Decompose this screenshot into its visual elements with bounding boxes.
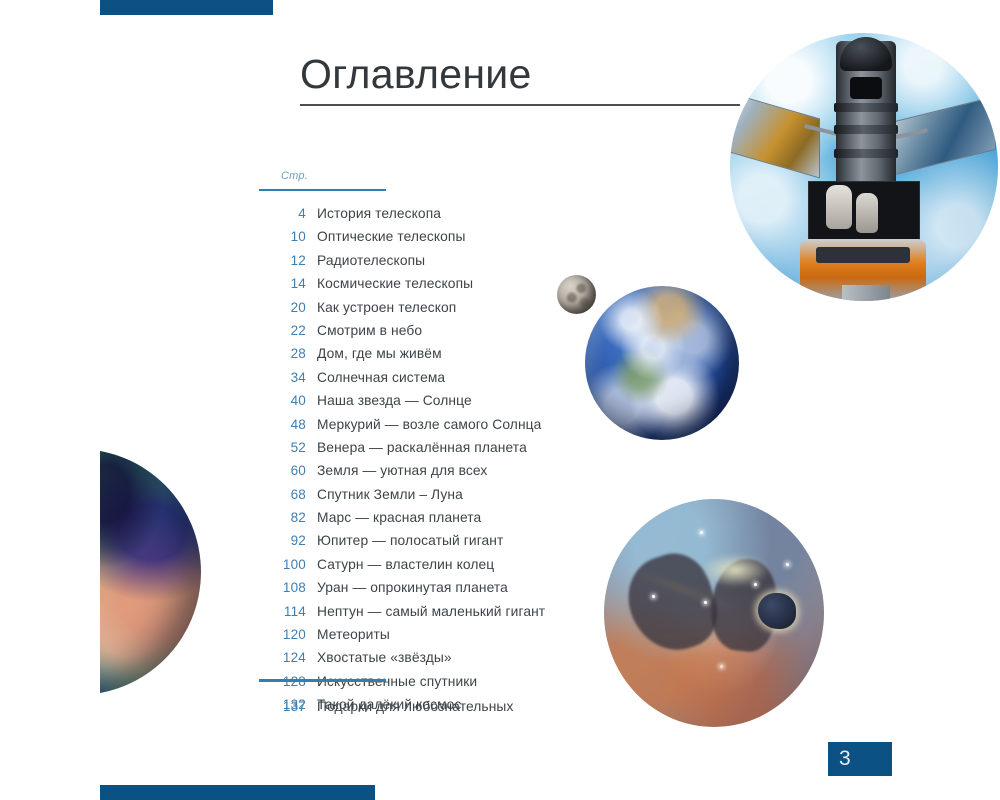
nebula-globule	[758, 593, 796, 629]
list-item[interactable]: 52Венера — раскалённая планета	[259, 440, 679, 463]
solar-panel-left	[730, 92, 820, 179]
toc-page-number: 34	[259, 370, 306, 385]
nebula-photo	[604, 499, 824, 727]
star-point	[786, 563, 789, 566]
list-item[interactable]: 128Искусственные спутники	[259, 674, 679, 697]
toc-entry-label: Спутник Земли – Луна	[317, 487, 463, 502]
telescope-base-panel	[816, 247, 910, 263]
top-decorative-bar	[100, 0, 273, 15]
toc-page-number: 124	[259, 650, 306, 665]
toc-page-number: 92	[259, 533, 306, 548]
list-item[interactable]: 137 Подарки для любознательных	[259, 699, 679, 722]
toc-entry-label: Смотрим в небо	[317, 323, 422, 338]
toc-entry-label: Наша звезда — Солнце	[317, 393, 472, 408]
star-point	[700, 531, 703, 534]
list-item[interactable]: 12Радиотелескопы	[259, 253, 679, 276]
moon-photo	[557, 275, 596, 314]
toc-page-number: 28	[259, 346, 306, 361]
toc-entry-label: Меркурий — возле самого Солнца	[317, 417, 541, 432]
hubble-space-telescope-photo	[730, 33, 998, 301]
telescope-band	[834, 149, 898, 158]
list-item[interactable]: 10Оптические телескопы	[259, 229, 679, 252]
bottom-decorative-bar	[100, 785, 375, 800]
star-point	[720, 665, 723, 668]
toc-page-number: 22	[259, 323, 306, 338]
toc-entry-label: Солнечная система	[317, 370, 445, 385]
toc-page-number: 14	[259, 276, 306, 291]
toc-entry-label: Космические телескопы	[317, 276, 473, 291]
toc-page-number: 60	[259, 463, 306, 478]
telescope-aperture	[850, 77, 882, 99]
list-item[interactable]: 68Спутник Земли – Луна	[259, 487, 679, 510]
page-title: Оглавление	[300, 52, 532, 97]
toc-separator-rule	[259, 679, 386, 682]
toc-page-number: 52	[259, 440, 306, 455]
title-underline	[300, 104, 740, 106]
toc-page-number: 68	[259, 487, 306, 502]
toc-entry-label: Оптические телескопы	[317, 229, 466, 244]
toc-page-number: 10	[259, 229, 306, 244]
earth-globe-photo	[585, 286, 739, 440]
toc-page-number: 100	[259, 557, 306, 572]
list-item[interactable]: 4История телескопа	[259, 206, 679, 229]
telescope-strut	[842, 285, 890, 301]
astronaut-figure	[826, 185, 852, 229]
toc-page-number: 120	[259, 627, 306, 642]
toc-entry-label: Хвостатые «звёзды»	[317, 650, 452, 665]
toc-page-number: 12	[259, 253, 306, 268]
toc-page: Оглавление Стр. 4История телескопа10Опти…	[0, 0, 1000, 800]
list-item[interactable]: 82Марс — красная планета	[259, 510, 679, 533]
caption-rule	[259, 189, 386, 191]
star-point	[652, 595, 655, 598]
toc-entry-label: Марс — красная планета	[317, 510, 481, 525]
toc-page-number: 82	[259, 510, 306, 525]
toc-entry-label: Дом, где мы живём	[317, 346, 442, 361]
toc-page-number: 48	[259, 417, 306, 432]
star-point	[754, 583, 757, 586]
toc-page-number: 114	[259, 604, 306, 619]
page-column-caption: Стр.	[281, 170, 308, 182]
list-item[interactable]: 60Земля — уютная для всех	[259, 463, 679, 486]
toc-entry-label: Земля — уютная для всех	[317, 463, 487, 478]
page-number-text: 3	[839, 747, 851, 771]
page-number-badge: 3	[828, 742, 892, 776]
astronaut-figure	[856, 193, 878, 233]
toc-page-number: 20	[259, 300, 306, 315]
list-item[interactable]: 92Юпитер — полосатый гигант	[259, 533, 679, 556]
toc-entry-label: Нептун — самый маленький гигант	[317, 604, 545, 619]
toc-page-number: 137	[259, 699, 306, 714]
telescope-band	[834, 125, 898, 134]
toc-entry-label: Радиотелескопы	[317, 253, 425, 268]
toc-page-number: 108	[259, 580, 306, 595]
toc-page-number: 40	[259, 393, 306, 408]
toc-entry-label: Метеориты	[317, 627, 390, 642]
toc-entry-label: Как устроен телескоп	[317, 300, 456, 315]
telescope-band	[834, 103, 898, 112]
toc-entry-label: Подарки для любознательных	[317, 699, 513, 714]
toc-entry-label: История телескопа	[317, 206, 441, 221]
nebula-glow	[700, 553, 770, 587]
toc-entry-label: Юпитер — полосатый гигант	[317, 533, 503, 548]
venus-radar-globe-photo	[100, 449, 201, 695]
toc-page-number: 4	[259, 206, 306, 221]
venus-globe	[100, 449, 201, 695]
star-point	[704, 601, 707, 604]
list-item[interactable]: 14Космические телескопы	[259, 276, 679, 299]
toc-entry-label: Сатурн — властелин колец	[317, 557, 494, 572]
toc-entry-label: Уран — опрокинутая планета	[317, 580, 508, 595]
toc-entry-label: Венера — раскалённая планета	[317, 440, 527, 455]
toc-final-section: 137 Подарки для любознательных	[259, 699, 679, 722]
